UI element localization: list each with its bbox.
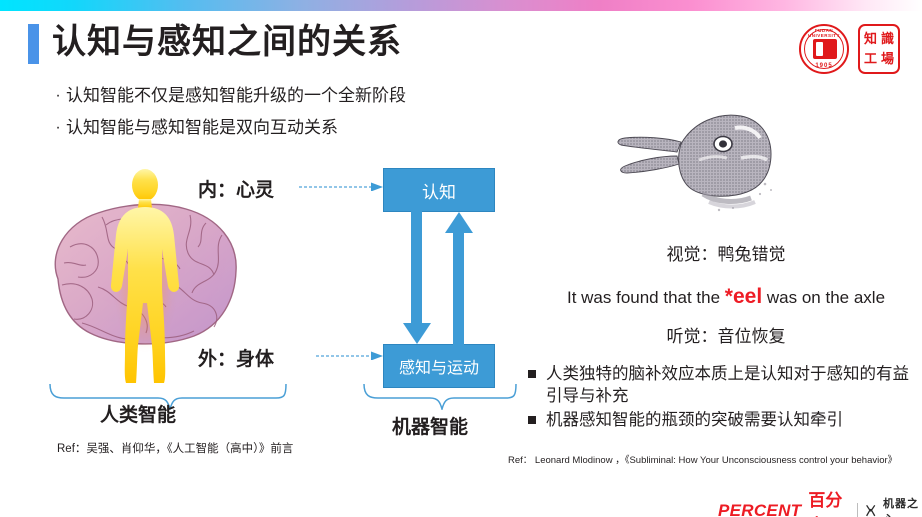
- bullet-text: 人类独特的脑补效应本质上是认知对于感知的有益引导与补充: [546, 363, 922, 407]
- list-item: · 认知智能不仅是感知智能升级的一个全新阶段: [50, 82, 510, 109]
- percent-logo-cn: 百分点: [808, 486, 849, 517]
- jiqizhixin-mark-icon: [865, 503, 876, 517]
- bullet-text: 认知智能不仅是感知智能升级的一个全新阶段: [66, 82, 406, 109]
- fudan-university-seal-icon: FUDAN UNIVERSITY 1905: [799, 24, 849, 74]
- box-cognition[interactable]: 认知: [383, 168, 495, 212]
- right-bullet-list: 人类独特的脑补效应本质上是认知对于感知的有益引导与补充 机器感知智能的瓶颈的突破…: [528, 363, 922, 433]
- seal-year-text: 1905: [801, 63, 847, 69]
- seal-university-text: FUDAN UNIVERSITY: [801, 28, 847, 38]
- logo-char: 工: [862, 49, 879, 69]
- human-figure-icon: [95, 165, 195, 387]
- inner-mind-label: 内：心灵: [198, 175, 274, 202]
- caption-machine-intelligence: 机器智能: [392, 412, 468, 439]
- square-bullet-icon: [528, 409, 546, 424]
- dashed-arrow-outer-to-perception: [316, 350, 385, 360]
- sentence-prefix: It was found that the: [567, 288, 725, 307]
- bullet-text: 机器感知智能的瓶颈的突破需要认知牵引: [546, 409, 843, 431]
- reference-right: Ref： Leonard Mlodinow ，《Subliminal: How …: [508, 452, 897, 466]
- page-title: 认知与感知之间的关系: [52, 18, 402, 66]
- logo-char: 場: [879, 49, 896, 69]
- sentence-highlight: *eel: [725, 285, 762, 308]
- outer-body-label: 外：身体: [198, 344, 274, 371]
- footer-branding: PERCENT 百分点 机器之心: [718, 486, 922, 517]
- logo-char: 知: [862, 29, 879, 49]
- slide-canvas: 认知与感知之间的关系 · 认知智能不仅是感知智能升级的一个全新阶段 · 认知智能…: [0, 0, 922, 517]
- zhishi-gongchang-logo-icon: 知 識 工 場: [858, 24, 900, 74]
- bullet-marker-icon: ·: [50, 82, 66, 109]
- title-accent-bar: [28, 24, 39, 64]
- sentence-suffix: was on the axle: [762, 288, 885, 307]
- square-bullet-icon: [528, 363, 546, 378]
- bullet-marker-icon: ·: [50, 114, 66, 141]
- brace-machine-intelligence: [362, 382, 518, 410]
- percent-logo-text: PERCENT: [718, 501, 801, 517]
- arrow-cognition-to-perception: [402, 211, 432, 345]
- header-bullet-list: · 认知智能不仅是感知智能升级的一个全新阶段 · 认知智能与感知智能是双向互动关…: [50, 82, 510, 146]
- bullet-text: 认知智能与感知智能是双向互动关系: [66, 114, 338, 141]
- arrow-perception-to-cognition: [444, 211, 474, 345]
- caption-hearing: 听觉：音位恢复: [530, 322, 922, 347]
- duck-rabbit-illusion-image: [615, 98, 800, 233]
- logo-char: 識: [879, 29, 896, 49]
- top-gradient-bar: [0, 0, 922, 11]
- list-item: 人类独特的脑补效应本质上是认知对于感知的有益引导与补充: [528, 363, 922, 407]
- jiqizhixin-logo-text: 机器之心: [883, 495, 922, 517]
- seal-center-glyph: [813, 39, 837, 59]
- list-item: 机器感知智能的瓶颈的突破需要认知牵引: [528, 409, 922, 431]
- footer-divider: [857, 503, 858, 517]
- caption-vision-illusion: 视觉：鸭兔错觉: [530, 240, 922, 265]
- reference-left: Ref：吴强、肖仰华，《人工智能（高中）》前言: [57, 440, 293, 456]
- phoneme-restoration-sentence: It was found that the *eel was on the ax…: [530, 285, 922, 309]
- dashed-arrow-inner-to-cognition: [299, 181, 385, 191]
- caption-human-intelligence: 人类智能: [100, 400, 176, 427]
- list-item: · 认知智能与感知智能是双向互动关系: [50, 114, 510, 141]
